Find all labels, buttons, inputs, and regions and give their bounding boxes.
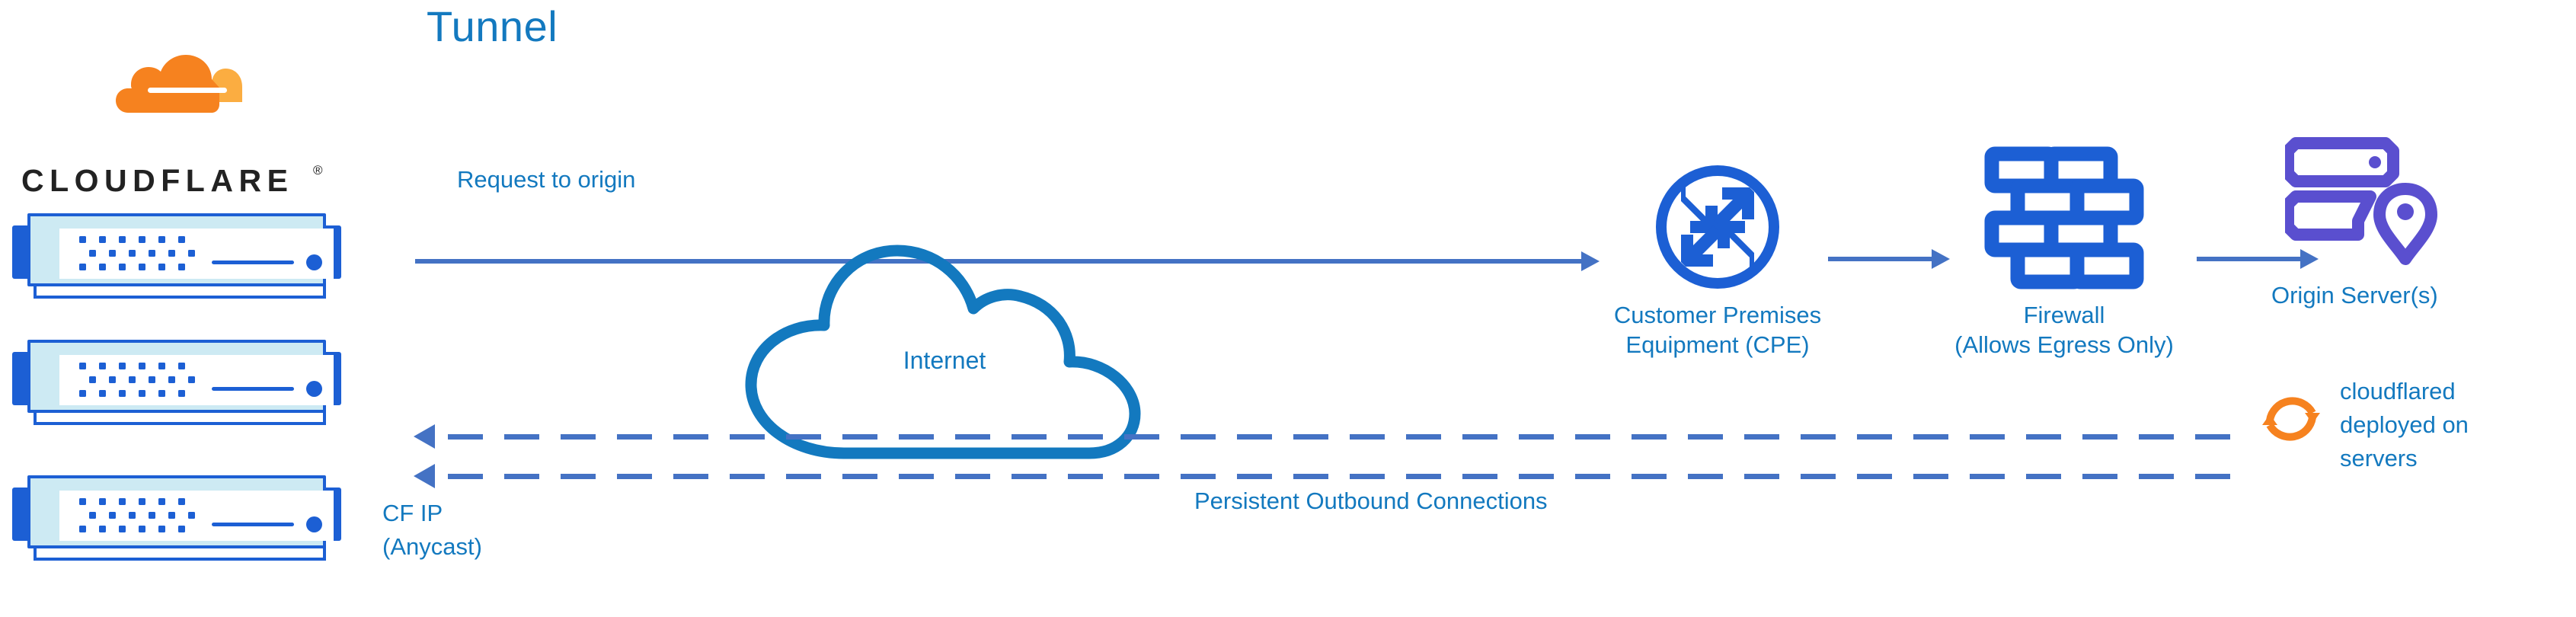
server-rack-2 bbox=[11, 338, 343, 431]
server-led-icon bbox=[306, 381, 322, 397]
cpe-to-firewall-line bbox=[1828, 257, 1935, 261]
server-status-line bbox=[212, 387, 294, 391]
server-faceplate bbox=[59, 491, 334, 541]
firewall-label: Firewall (Allows Egress Only) bbox=[1927, 300, 2201, 360]
server-led-icon bbox=[306, 254, 322, 270]
server-dots-icon bbox=[79, 498, 201, 533]
cloudflared-label-line3: servers bbox=[2340, 442, 2568, 475]
server-dots-icon bbox=[79, 363, 201, 398]
server-status-line bbox=[212, 261, 294, 264]
cpe-node: Customer Premises Equipment (CPE) bbox=[1619, 158, 1817, 288]
cf-ip-anycast-label: CF IP (Anycast) bbox=[382, 497, 611, 564]
page-title: Tunnel bbox=[427, 2, 558, 51]
origin-server-label: Origin Server(s) bbox=[2271, 280, 2530, 310]
diagram-canvas: Tunnel CLOUDFLARE ® bbox=[0, 0, 2576, 617]
cpe-to-firewall-arrowhead bbox=[1932, 249, 1950, 269]
server-body bbox=[27, 213, 326, 286]
registered-trademark-symbol: ® bbox=[313, 163, 323, 178]
outbound-flow-label: Persistent Outbound Connections bbox=[1194, 486, 1548, 516]
cpe-label: Customer Premises Equipment (CPE) bbox=[1611, 300, 1824, 360]
server-location-pin-icon bbox=[2285, 137, 2437, 267]
cloudflare-logo: CLOUDFLARE ® bbox=[21, 99, 326, 198]
server-rack-1 bbox=[11, 212, 343, 305]
sync-arrows-icon bbox=[2255, 382, 2328, 456]
request-flow-label: Request to origin bbox=[457, 165, 635, 194]
cloudflared-label: cloudflared deployed on servers bbox=[2340, 375, 2568, 475]
outbound-dashed-line-1 bbox=[448, 434, 2245, 440]
server-body bbox=[27, 475, 326, 548]
firewall-label-line2: (Allows Egress Only) bbox=[1927, 330, 2201, 360]
cloudflared-annotation: cloudflared deployed on servers bbox=[2255, 381, 2574, 510]
brick-wall-icon bbox=[1984, 146, 2144, 291]
cpe-label-line2: Equipment (CPE) bbox=[1611, 330, 1824, 360]
cloudflare-cloud-icon bbox=[97, 52, 250, 117]
server-rack-3 bbox=[11, 474, 343, 567]
server-status-line bbox=[212, 523, 294, 526]
cloudflare-wordmark: CLOUDFLARE bbox=[21, 163, 293, 199]
outbound-arrowhead-2 bbox=[414, 464, 435, 488]
firewall-label-line1: Firewall bbox=[1927, 300, 2201, 330]
internet-label: Internet bbox=[708, 347, 1181, 375]
internet-cloud-node: Internet bbox=[708, 232, 1181, 461]
cpe-label-line1: Customer Premises bbox=[1611, 300, 1824, 330]
request-flow-arrowhead bbox=[1581, 251, 1600, 271]
server-dots-icon bbox=[79, 236, 201, 271]
server-faceplate bbox=[59, 229, 334, 279]
outbound-arrowhead-1 bbox=[414, 424, 435, 449]
server-led-icon bbox=[306, 516, 322, 532]
cf-ip-label-line2: (Anycast) bbox=[382, 530, 611, 564]
cf-ip-label-line1: CF IP bbox=[382, 497, 611, 530]
outbound-dashed-line-2 bbox=[448, 474, 2245, 479]
router-arrows-circle-icon bbox=[1649, 158, 1786, 296]
server-faceplate bbox=[59, 355, 334, 405]
firewall-node: Firewall (Allows Egress Only) bbox=[1958, 146, 2171, 283]
cloudflared-label-line1: cloudflared bbox=[2340, 375, 2568, 408]
server-body bbox=[27, 340, 326, 413]
origin-server-node: Origin Server(s) bbox=[2285, 137, 2529, 274]
cloudflared-label-line2: deployed on bbox=[2340, 408, 2568, 442]
